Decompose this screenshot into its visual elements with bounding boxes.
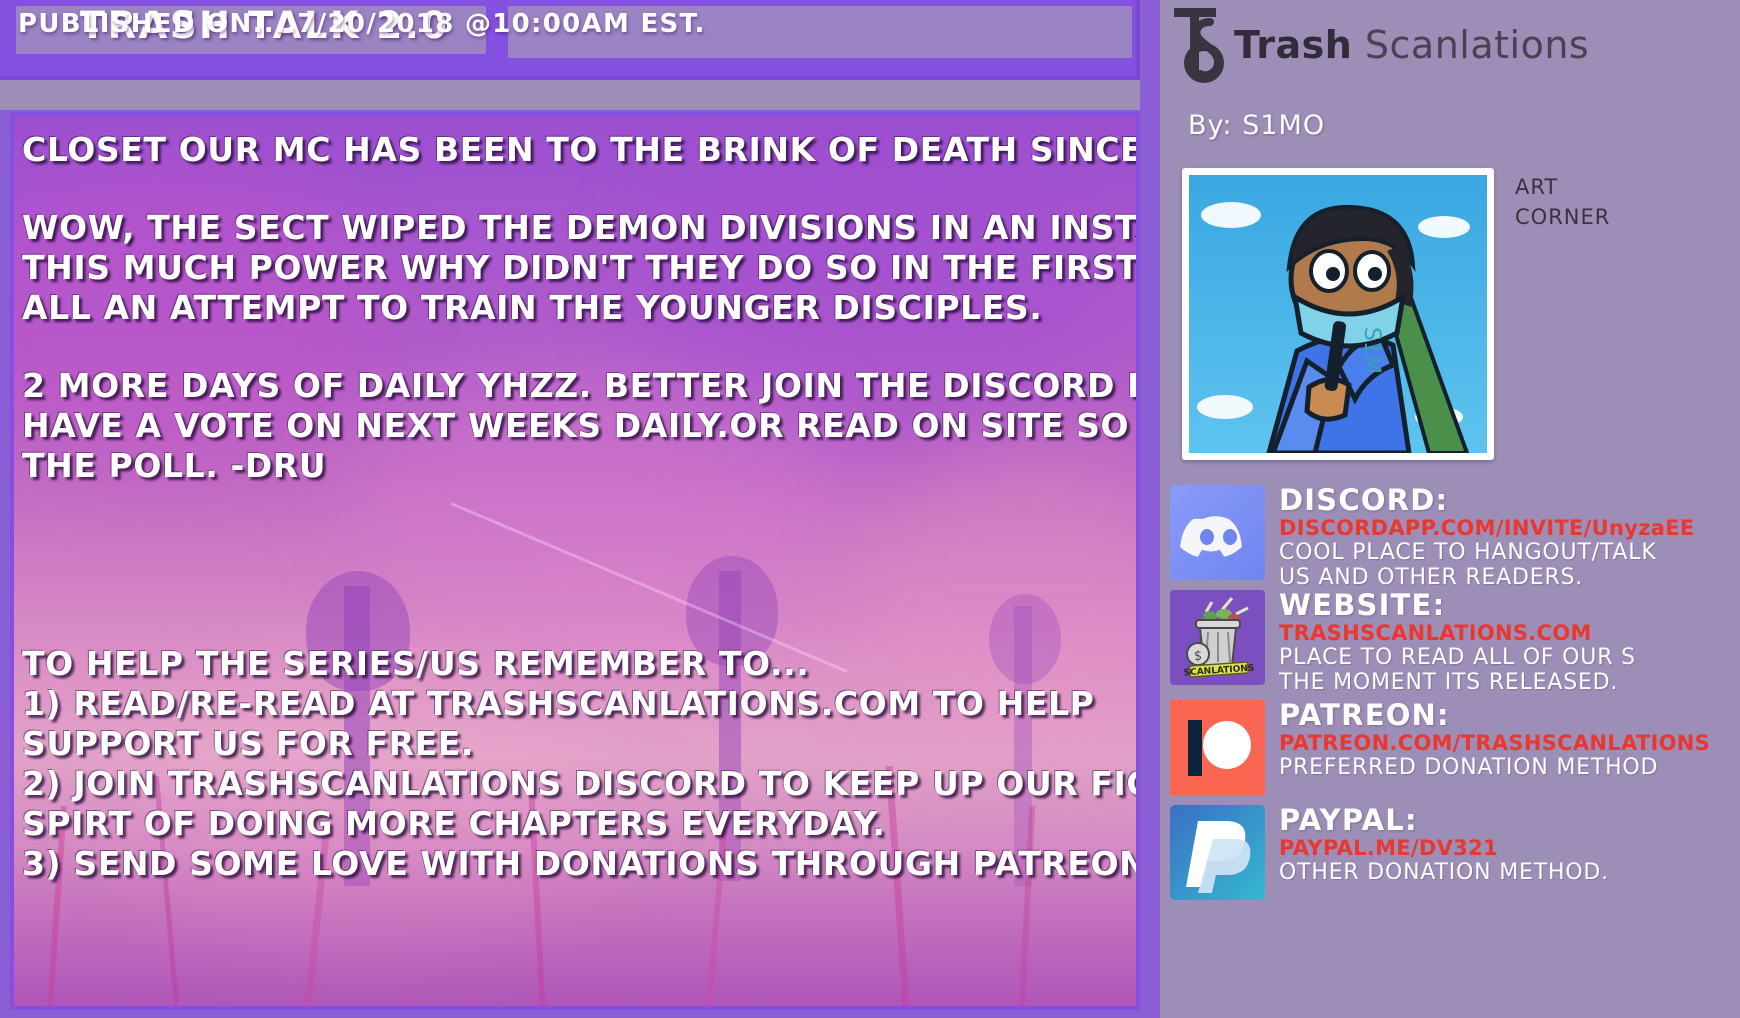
announcement-text: CLOSET OUR MC HAS BEEN TO THE BRINK OF D… xyxy=(14,116,1136,1006)
patreon-url[interactable]: PATREON.COM/TRASHSCANLATIONS xyxy=(1279,731,1710,755)
brand-name-light: Scanlations xyxy=(1365,23,1589,67)
content-panel: CLOSET OUR MC HAS BEEN TO THE BRINK OF D… xyxy=(10,112,1140,1010)
discord-desc-1: COOL PLACE TO HANGOUT/TALK xyxy=(1279,540,1695,565)
header-gap-strip xyxy=(0,80,1140,110)
page-root: TRASH TALK 2.0 PUBLISHED ON....7/20/2018… xyxy=(0,0,1740,1018)
link-row-paypal[interactable]: PAYPAL: PAYPAL.ME/DV321 OTHER DONATION M… xyxy=(1170,805,1740,900)
body-line: 1) READ/RE-READ AT TRASHSCANLATIONS.COM … xyxy=(22,684,1126,724)
body-line: THIS MUCH POWER WHY DIDN'T THEY DO SO IN… xyxy=(22,248,1126,288)
patreon-title: PATREON: xyxy=(1279,700,1710,731)
body-line: THE POLL. -DRU xyxy=(22,446,1126,486)
website-text: WEBSITE: TRASHSCANLATIONS.COM PLACE TO R… xyxy=(1279,590,1636,695)
body-line: HAVE A VOTE ON NEXT WEEKS DAILY.OR READ … xyxy=(22,406,1126,446)
discord-title: DISCORD: xyxy=(1279,485,1695,516)
trash-scanlations-logo-icon xyxy=(1170,6,1238,84)
body-line: ALL AN ATTEMPT TO TRAIN THE YOUNGER DISC… xyxy=(22,288,1126,328)
website-url[interactable]: TRASHSCANLATIONS.COM xyxy=(1279,621,1636,645)
link-row-website[interactable]: $ SCANLATIONS WEBSITE: TRASHSCANLATIONS.… xyxy=(1170,590,1740,695)
discord-url[interactable]: DISCORDAPP.COM/INVITE/UnyzaEE xyxy=(1279,516,1695,540)
paypal-icon[interactable] xyxy=(1170,805,1265,900)
paypal-url[interactable]: PAYPAL.ME/DV321 xyxy=(1279,836,1609,860)
body-line: SUPPORT US FOR FREE. xyxy=(22,724,1126,764)
byline: By: S1MO xyxy=(1188,110,1325,141)
svg-text:$: $ xyxy=(1194,649,1202,664)
body-line: 2) JOIN TRASHSCANLATIONS DISCORD TO KEEP… xyxy=(22,764,1126,804)
paypal-title: PAYPAL: xyxy=(1279,805,1609,836)
art-corner-label: ART CORNER xyxy=(1515,172,1551,232)
left-panel: TRASH TALK 2.0 PUBLISHED ON....7/20/2018… xyxy=(0,0,1160,1018)
link-row-patreon[interactable]: PATREON: PATREON.COM/TRASHSCANLATIONS PR… xyxy=(1170,700,1740,795)
art-corner-image: S1M xyxy=(1189,175,1487,453)
paypal-text: PAYPAL: PAYPAL.ME/DV321 OTHER DONATION M… xyxy=(1279,805,1609,885)
svg-text:S1M: S1M xyxy=(1359,327,1384,374)
brand-name: Trash Scanlations xyxy=(1234,23,1589,67)
discord-icon[interactable] xyxy=(1170,485,1265,580)
sidebar: Trash Scanlations By: S1MO xyxy=(1160,0,1740,1018)
brand-name-bold: Trash xyxy=(1234,23,1352,67)
discord-text: DISCORD: DISCORDAPP.COM/INVITE/UnyzaEE C… xyxy=(1279,485,1695,590)
body-line: SPIRT OF DOING MORE CHAPTERS EVERYDAY. xyxy=(22,804,1126,844)
website-title: WEBSITE: xyxy=(1279,590,1636,621)
website-desc-1: PLACE TO READ ALL OF OUR S xyxy=(1279,645,1636,670)
art-corner-frame: S1M xyxy=(1182,168,1494,460)
paypal-desc-1: OTHER DONATION METHOD. xyxy=(1279,860,1609,885)
header-bar: TRASH TALK 2.0 PUBLISHED ON....7/20/2018… xyxy=(0,0,1140,80)
website-desc-2: THE MOMENT ITS RELEASED. xyxy=(1279,670,1636,695)
body-line: TO HELP THE SERIES/US REMEMBER TO... xyxy=(22,644,1126,684)
link-row-discord[interactable]: DISCORD: DISCORDAPP.COM/INVITE/UnyzaEE C… xyxy=(1170,485,1740,590)
brand-header: Trash Scanlations xyxy=(1170,6,1589,84)
patreon-text: PATREON: PATREON.COM/TRASHSCANLATIONS PR… xyxy=(1279,700,1710,780)
discord-desc-2: US AND OTHER READERS. xyxy=(1279,565,1695,590)
patreon-icon[interactable] xyxy=(1170,700,1265,795)
published-date: PUBLISHED ON....7/20/2018 @10:00AM EST. xyxy=(18,9,706,39)
body-line: 2 MORE DAYS OF DAILY YHZZ. BETTER JOIN T… xyxy=(22,366,1126,406)
body-line: 3) SEND SOME LOVE WITH DONATIONS THROUGH… xyxy=(22,844,1126,884)
body-line: CLOSET OUR MC HAS BEEN TO THE BRINK OF D… xyxy=(22,130,1126,170)
body-line: WOW, THE SECT WIPED THE DEMON DIVISIONS … xyxy=(22,208,1126,248)
trashcan-website-icon[interactable]: $ SCANLATIONS xyxy=(1170,590,1265,685)
patreon-desc-1: PREFERRED DONATION METHOD xyxy=(1279,755,1710,780)
